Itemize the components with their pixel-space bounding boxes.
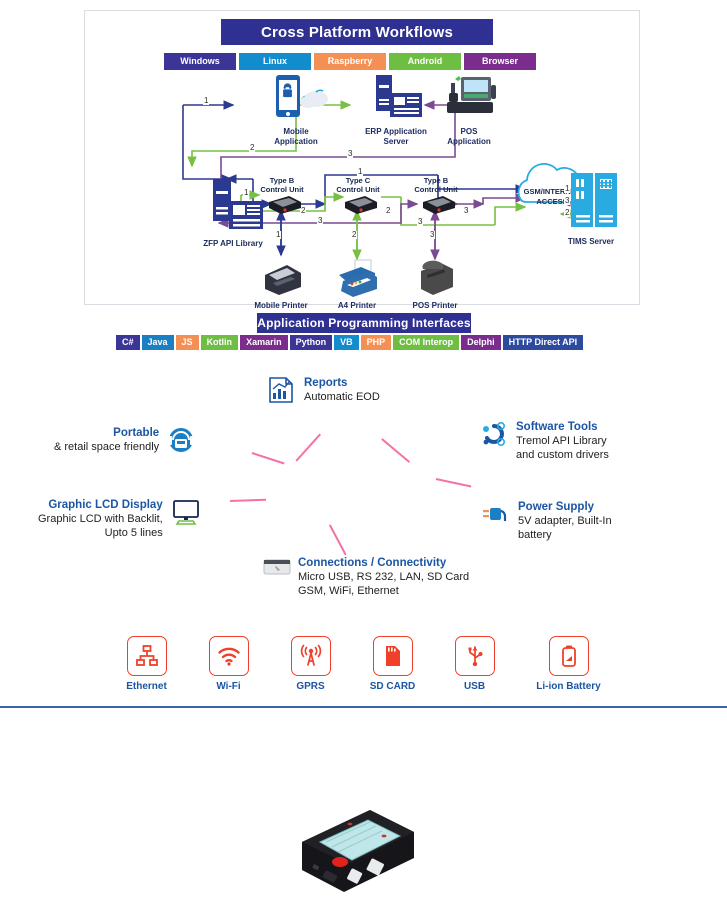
cross-platform-workflows-panel: Cross Platform Workflows Windows Linux R… [84,10,640,305]
ports-panel-icon [262,556,290,584]
gears-network-icon [480,420,508,448]
feature-text: Software Tools Tremol API Library and cu… [516,420,609,462]
bottom-icon-sd-card[interactable]: SD CARD [365,636,421,692]
flow-number: 1 [203,97,209,105]
node-label: POS Application [423,127,515,147]
spoke-line [252,452,285,464]
feature-portable: Portable & retail space friendly [54,426,195,454]
feature-title: Power Supply [518,500,612,514]
bottom-icon-gprs[interactable]: GPRS [283,636,339,692]
node-mobile-application: Mobile Application [250,73,342,147]
api-banner: Application Programming Interfaces [257,313,471,333]
feature-graphic-lcd-display: Graphic LCD Display Graphic LCD with Bac… [38,498,199,540]
feature-connections-connectivity: Connections / Connectivity Micro USB, RS… [262,556,469,598]
feature-desc: & retail space friendly [54,440,159,454]
node-label: POS Printer [389,301,481,311]
node-tims-server: TIMS Server [543,171,639,247]
feature-desc: Tremol API Library and custom drivers [516,434,609,462]
flow-number: 2 [385,207,391,215]
api-chip-php[interactable]: PHP [361,335,392,350]
feature-power-supply: Power Supply 5V adapter, Built-In batter… [482,500,612,542]
flow-number: 3 [417,218,423,226]
spoke-line [295,433,320,461]
monitor-icon [171,498,199,526]
sdcard-icon [373,636,413,676]
node-pos-application: POS Application [423,73,515,147]
api-chip-python[interactable]: Python [290,335,333,350]
node-label: ZFP API Library [185,239,281,249]
flow-number: 3 [317,217,323,225]
bottom-icon-label: SD CARD [365,681,421,692]
feature-desc: Micro USB, RS 232, LAN, SD Card GSM, WiF… [298,570,469,598]
feature-title: Connections / Connectivity [298,556,469,570]
api-chip-row: C# Java JS Kotlin Xamarin Python VB PHP … [116,335,583,350]
feature-title: Software Tools [516,420,609,434]
bottom-icon-li-ion-battery[interactable]: Li-ion Battery [529,636,609,692]
flow-number: 2 [300,207,306,215]
flow-number: 2 [351,231,357,239]
features-section: Reports Automatic EOD Software Tools Tre… [0,360,727,620]
feature-text: Connections / Connectivity Micro USB, RS… [298,556,469,598]
portable-device-icon [167,426,195,454]
api-chip-com-interop[interactable]: COM Interop [393,335,459,350]
api-chip-xamarin[interactable]: Xamarin [240,335,288,350]
feature-desc: Automatic EOD [304,390,380,404]
bottom-icon-usb[interactable]: USB [447,636,503,692]
control-unit-type-b-2: Type B Control Unit [397,176,475,194]
bottom-icon-ethernet[interactable]: Ethernet [119,636,175,692]
feature-title: Graphic LCD Display [38,498,163,512]
bottom-icon-label: Li-ion Battery [529,681,609,692]
api-chip-delphi[interactable]: Delphi [461,335,501,350]
mobile-phone-icon [250,73,342,125]
flow-number: 3 [347,150,353,158]
feature-reports: Reports Automatic EOD [268,376,380,404]
ethernet-icon [127,636,167,676]
flow-number: 3 [429,231,435,239]
spoke-line [382,438,411,462]
feature-text: Reports Automatic EOD [304,376,380,404]
feature-text: Portable & retail space friendly [54,426,159,454]
power-plug-icon [482,500,510,528]
pos-printer-icon [389,259,481,299]
feature-title: Reports [304,376,380,390]
api-chip-java[interactable]: Java [142,335,174,350]
control-unit-type-b-1: Type B Control Unit [243,176,321,194]
spoke-line [436,478,472,487]
bottom-icon-label: USB [447,681,503,692]
flow-number: 1 [357,168,363,176]
feature-text: Graphic LCD Display Graphic LCD with Bac… [38,498,163,540]
feature-software-tools: Software Tools Tremol API Library and cu… [480,420,609,462]
tims-server-icon [543,171,639,235]
feature-text: Power Supply 5V adapter, Built-In batter… [518,500,612,542]
control-unit-type-c: Type C Control Unit [319,176,397,194]
bottom-icon-label: GPRS [283,681,339,692]
pos-terminal-icon [423,73,515,125]
battery-icon [549,636,589,676]
node-pos-printer: POS Printer [389,259,481,311]
report-chart-icon [268,376,296,404]
spoke-line [230,499,266,502]
node-label: Mobile Application [250,127,342,147]
bottom-icon-label: Ethernet [119,681,175,692]
api-chip-http-direct-api[interactable]: HTTP Direct API [503,335,584,350]
api-chip-js[interactable]: JS [176,335,199,350]
footer-divider [0,706,727,708]
api-chip-vb[interactable]: VB [334,335,359,350]
feature-desc: 5V adapter, Built-In battery [518,514,612,542]
feature-title: Portable [54,426,159,440]
node-label: TIMS Server [543,237,639,247]
api-chip-kotlin[interactable]: Kotlin [201,335,239,350]
connectivity-icon-row: Ethernet Wi-Fi GPRS [0,636,727,692]
bottom-icon-label: Wi-Fi [201,681,257,692]
fiscal-device-photo [296,802,418,898]
flow-number: 3 [463,207,469,215]
usb-icon [455,636,495,676]
spoke-line [329,524,346,555]
antenna-icon [291,636,331,676]
wifi-icon [209,636,249,676]
bottom-icon-wifi[interactable]: Wi-Fi [201,636,257,692]
api-chip-csharp[interactable]: C# [116,335,140,350]
feature-desc: Graphic LCD with Backlit, Upto 5 lines [38,512,163,540]
